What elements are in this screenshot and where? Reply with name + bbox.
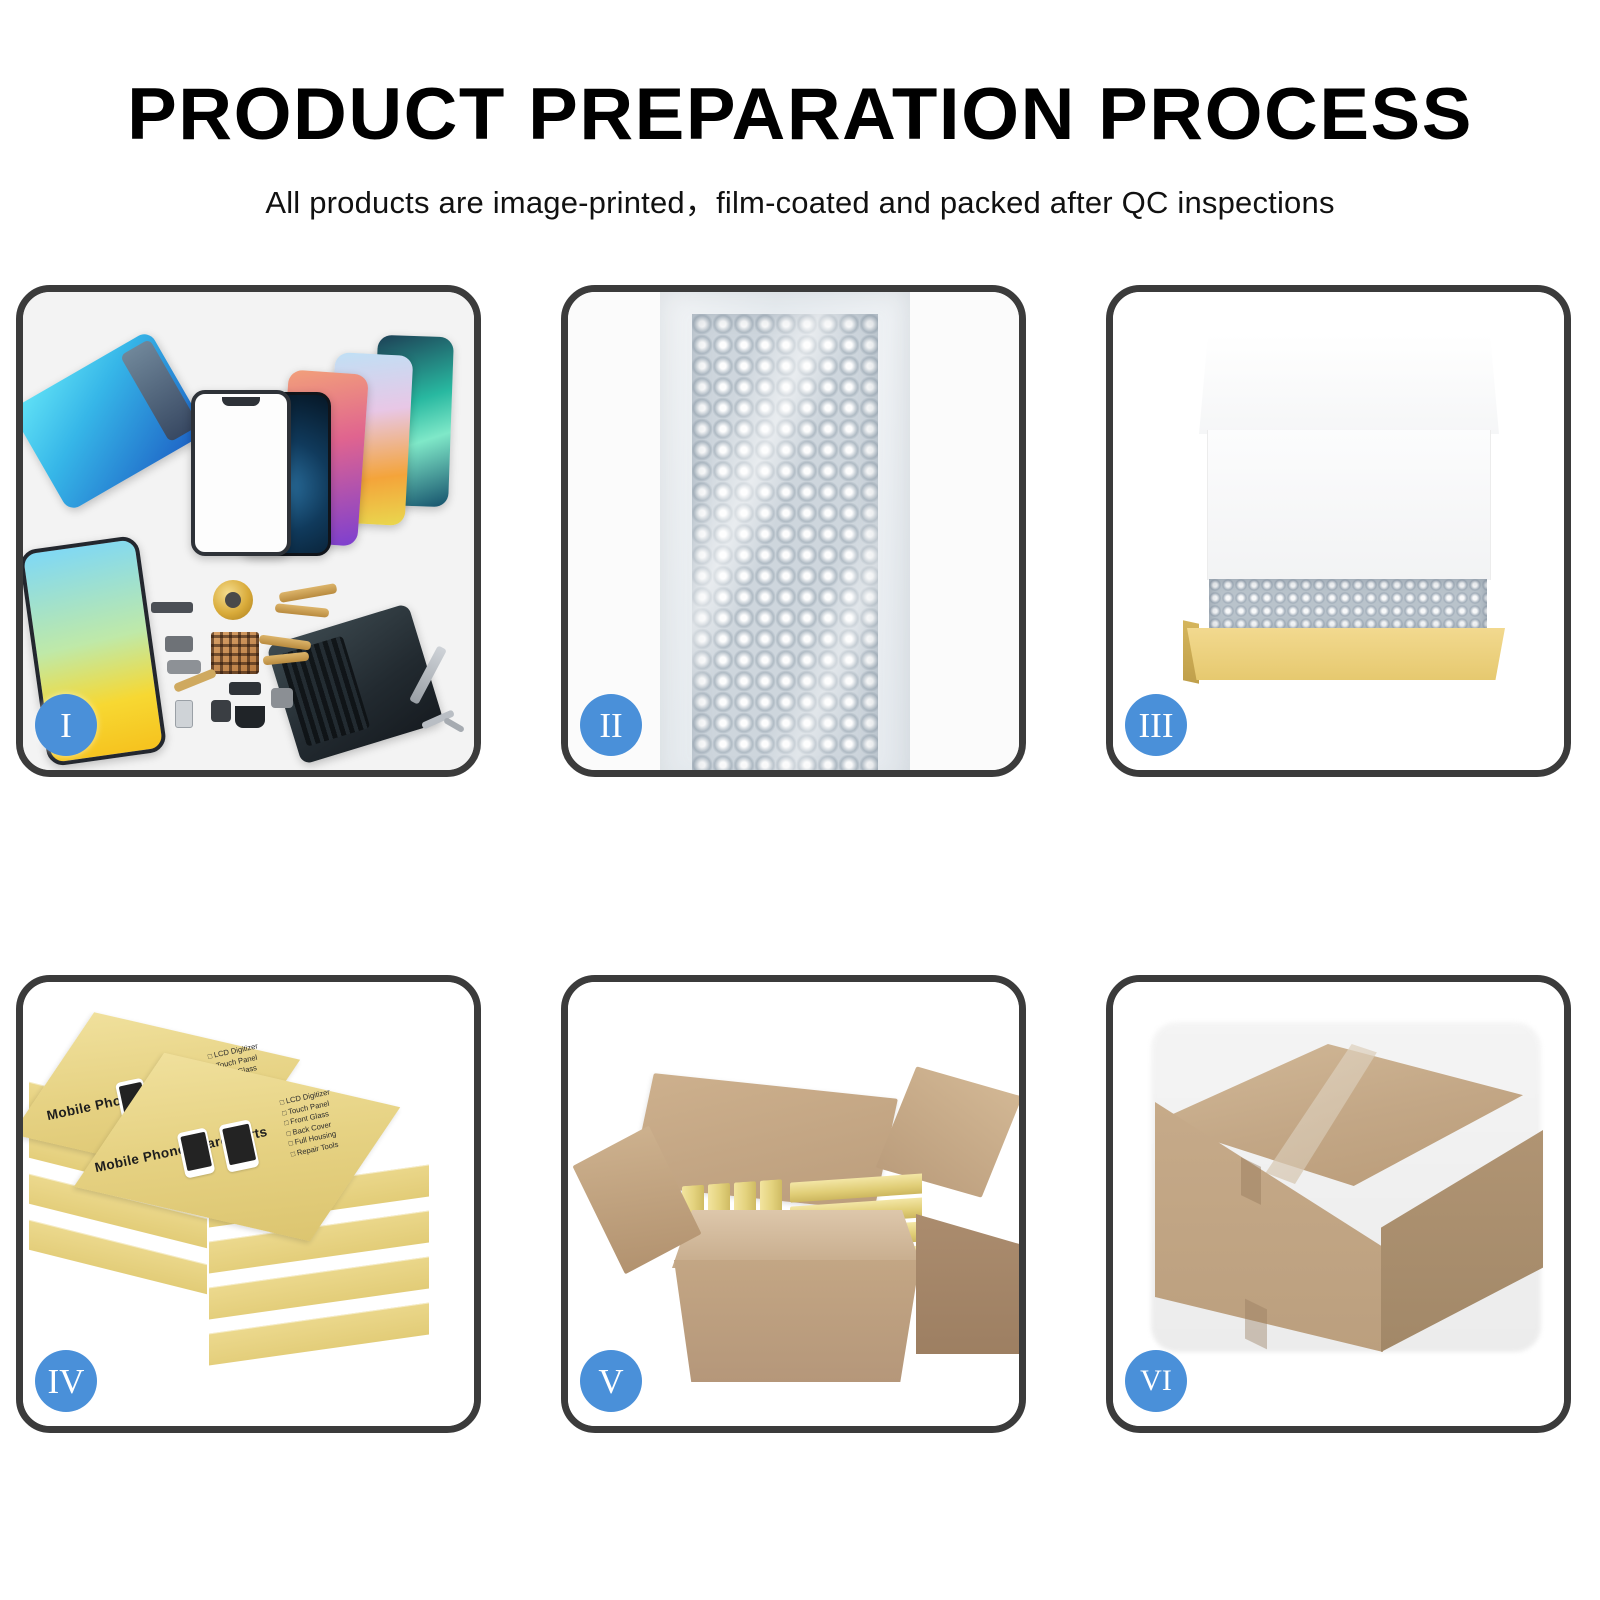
step-badge-6: VI (1125, 1350, 1187, 1412)
step-badge-3: III (1125, 694, 1187, 756)
carton-front-wall (674, 1260, 920, 1382)
sim-card-tray (175, 700, 193, 728)
mailer-box-back-wall (1207, 430, 1491, 580)
sim-tray-chip (151, 602, 193, 613)
step-panel-4[interactable]: Mobile Phone Spare Parts LCD Digitizer T… (16, 975, 481, 1433)
carton-top-rim (672, 1210, 922, 1268)
mailer-box-lid (1199, 334, 1499, 434)
speaker-chip (167, 660, 201, 674)
step-panel-1[interactable]: I (16, 285, 481, 777)
step-badge-2: II (580, 694, 642, 756)
step-2-image (568, 292, 1019, 770)
mailer-box-front-wall (1187, 628, 1505, 680)
front-glass-outline (191, 390, 291, 556)
step-badge-5: V (580, 1350, 642, 1412)
page-subtitle: All products are image-printed，film-coat… (0, 151, 1600, 222)
plastic-sheen-overlay (692, 314, 878, 770)
coil-center (225, 592, 241, 608)
step-panel-3[interactable]: III (1106, 285, 1571, 777)
step-1-image (23, 292, 474, 770)
step-4-image: Mobile Phone Spare Parts LCD Digitizer T… (23, 982, 474, 1426)
step-panel-5[interactable]: V (561, 975, 1026, 1433)
bubble-wrapped-product (1209, 579, 1487, 631)
step-5-image (568, 982, 1019, 1426)
step-3-image (1113, 292, 1564, 770)
battery-connector-chip (229, 682, 261, 695)
camera-module-chip (165, 636, 193, 652)
step-badge-1: I (35, 694, 97, 756)
logic-board-chip (211, 632, 259, 674)
earpiece-chip (211, 700, 231, 722)
page-header: PRODUCT PREPARATION PROCESS All products… (0, 0, 1600, 250)
step-panel-6[interactable]: VI (1106, 975, 1571, 1433)
step-6-image (1113, 982, 1564, 1426)
page-title: PRODUCT PREPARATION PROCESS (0, 0, 1600, 151)
charging-port-chip (235, 706, 265, 728)
yellow-box-stack: Mobile Phone Spare Parts LCD Digitizer T… (23, 982, 474, 1426)
step-badge-4: IV (35, 1350, 97, 1412)
vibrator-chip (271, 688, 293, 708)
step-panel-2[interactable]: II (561, 285, 1026, 777)
process-steps-grid: I II III (0, 285, 1600, 1445)
